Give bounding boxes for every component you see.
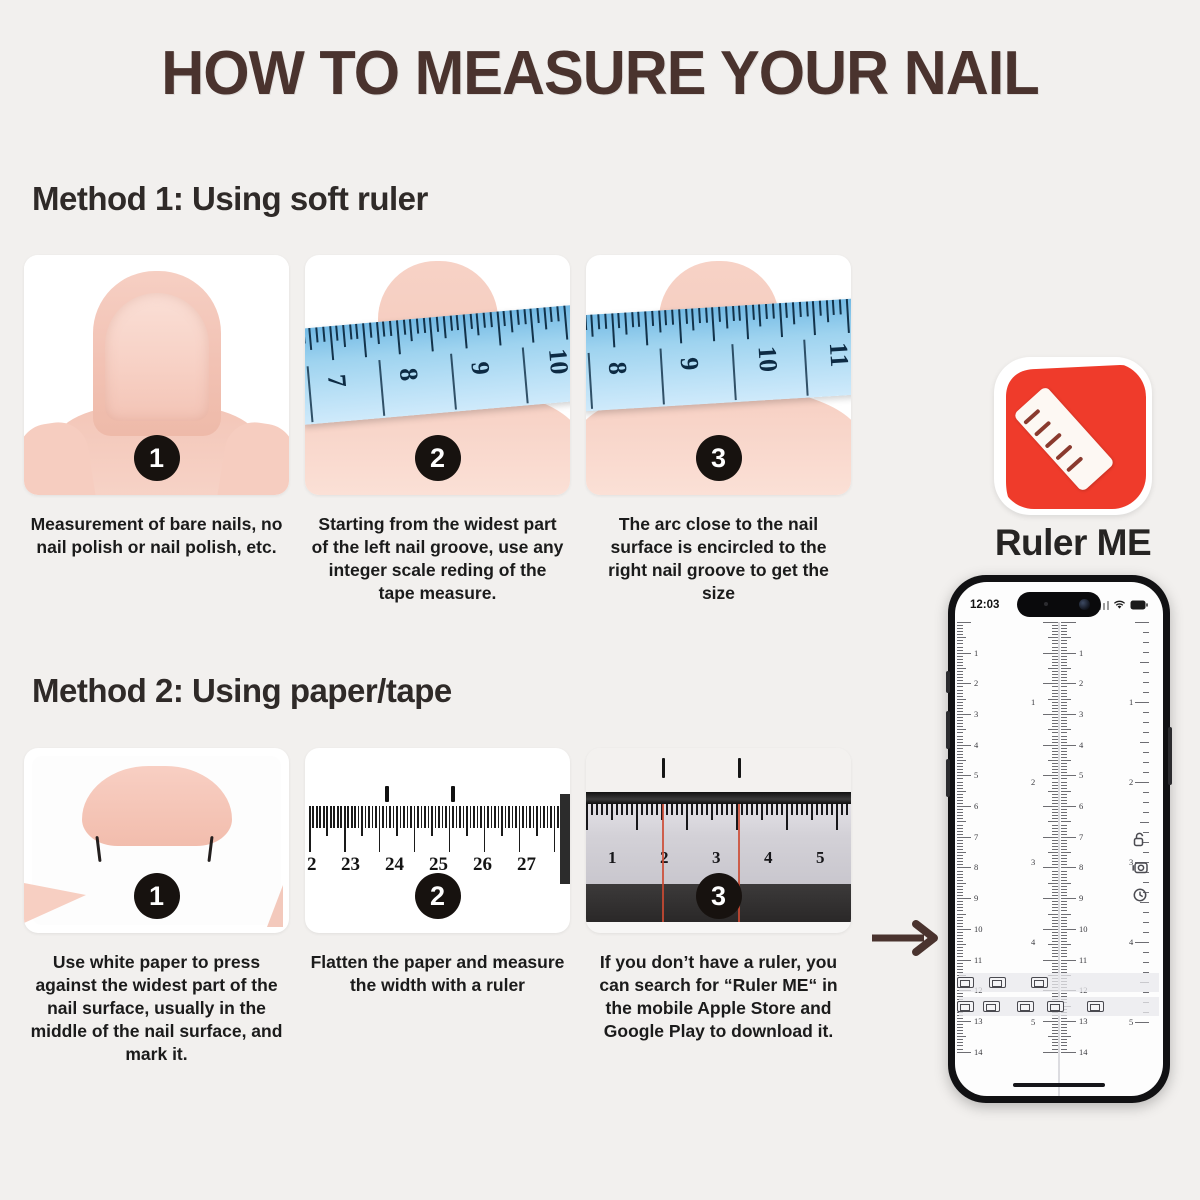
ruler-tick — [1052, 665, 1058, 666]
ruler-tick — [1061, 726, 1067, 727]
ruler-tick — [957, 683, 971, 684]
ruler-tick — [957, 782, 963, 783]
ruler-number: 23 — [341, 854, 360, 876]
ruler-tick — [957, 969, 963, 970]
ruler-tick — [1052, 858, 1058, 859]
ruler-tick — [1061, 677, 1067, 678]
tape-tick — [550, 307, 553, 322]
ruler-tick — [1052, 855, 1058, 856]
ruler-tick — [636, 804, 638, 830]
ruler-tick — [641, 804, 643, 815]
ruler-number: 5 — [1031, 1017, 1035, 1027]
ruler-tick — [1061, 855, 1067, 856]
ruler-background — [586, 748, 851, 792]
ruler-tick — [741, 804, 743, 815]
tape-tick — [597, 314, 600, 329]
tape-tick — [718, 307, 721, 322]
ruler-tick — [1135, 622, 1149, 623]
ruler-tick — [1043, 775, 1058, 776]
tape-tick — [812, 301, 816, 335]
tape-tick — [658, 310, 661, 332]
ruler-tick — [706, 804, 708, 815]
ruler-tick — [1052, 1024, 1058, 1025]
ruler-tick — [1061, 665, 1067, 666]
ruler-tick — [1052, 880, 1058, 881]
tape-tick — [456, 315, 459, 330]
ruler-tick — [957, 821, 966, 822]
ruler-tick — [333, 806, 335, 828]
ruler-tick — [1043, 960, 1058, 961]
ruler-tick — [1052, 696, 1058, 697]
ruler-tick — [957, 855, 963, 856]
ruler-tick — [957, 907, 963, 908]
ruler-tick — [1043, 622, 1058, 623]
ruler-tick — [1061, 668, 1071, 669]
ruler-tick — [957, 843, 963, 844]
method-1-heading: Method 1: Using soft ruler — [32, 180, 428, 218]
ruler-tick — [1143, 642, 1149, 643]
ruler-number: 6 — [974, 801, 978, 811]
tape-tick — [846, 299, 850, 333]
tape-tick — [671, 310, 674, 325]
tape-tick — [315, 327, 318, 342]
size-widget[interactable] — [1047, 1001, 1064, 1012]
ruler-tick — [368, 806, 370, 828]
ruler-tick — [1061, 837, 1076, 838]
ruler-tick — [1061, 1024, 1067, 1025]
ruler-tick — [375, 806, 377, 828]
ruler-number: 3 — [1031, 857, 1035, 867]
tape-tick — [369, 323, 372, 338]
ruler-tick — [550, 806, 552, 828]
ruler-tick — [686, 804, 688, 830]
ruler-tick — [1052, 886, 1058, 887]
ruler-tick — [424, 806, 426, 828]
ruler-tick — [957, 941, 963, 942]
power-button[interactable] — [1168, 727, 1172, 785]
ruler-tick — [671, 804, 673, 815]
ruler-tick — [533, 806, 535, 828]
ruler-tick — [494, 806, 496, 828]
ruler-tick — [957, 1042, 963, 1043]
tape-tick — [678, 309, 682, 343]
ruler-tick — [1052, 766, 1058, 767]
ruler-tick — [1052, 693, 1058, 694]
ruler-tick — [1052, 754, 1058, 755]
ruler-number: 2 — [974, 678, 978, 688]
ruler-tick — [1061, 769, 1067, 770]
ruler-tick — [957, 739, 963, 740]
ruler-tick — [365, 806, 367, 828]
ruler-edge — [560, 794, 570, 884]
tape-number: 9 — [674, 356, 705, 371]
ruler-tick — [1052, 785, 1058, 786]
ruler-tick — [498, 806, 500, 828]
ruler-tick — [1061, 680, 1067, 681]
tape-tick — [536, 308, 539, 323]
ruler-tick — [957, 926, 963, 927]
ruler-tick — [1061, 674, 1067, 675]
ruler-tick — [1052, 757, 1058, 758]
ruler-tick — [957, 680, 963, 681]
ruler-tick — [957, 864, 963, 865]
ruler-tick — [529, 806, 531, 828]
size-widget[interactable] — [1087, 1001, 1104, 1012]
tape-tick — [423, 318, 426, 333]
ruler-tick — [1061, 778, 1067, 779]
ruler-tick — [1143, 852, 1149, 853]
tape-tick — [342, 325, 346, 347]
ruler-tick — [508, 806, 510, 828]
ruler-tick — [696, 804, 698, 815]
ruler-tick — [1061, 662, 1067, 663]
ruler-tick — [396, 806, 398, 836]
step-card-m2-3: 12345 3 If you don’t have a ruler, you c… — [586, 748, 851, 1066]
ruler-tick — [1061, 828, 1067, 829]
ruler-tick — [1061, 686, 1067, 687]
ruler-tick — [428, 806, 430, 828]
ruler-tick — [1061, 1042, 1067, 1043]
ruler-number: 4 — [1079, 740, 1083, 750]
ruler-tick — [347, 806, 349, 828]
ruler-tick — [711, 804, 713, 820]
ruler-tick — [1052, 702, 1058, 703]
ruler-tick — [1052, 782, 1058, 783]
ruler-tick — [1052, 726, 1058, 727]
ruler-tick — [1052, 690, 1058, 691]
ruler-tick — [1061, 846, 1067, 847]
ruler-number: 4 — [764, 848, 773, 868]
ruler-number: 5 — [816, 848, 825, 868]
page-title: HOW TO MEASURE YOUR NAIL — [24, 38, 1176, 109]
step-card-m1-2: 78910 2 Starting from the widest part of… — [305, 255, 570, 605]
ruler-tick — [1061, 757, 1067, 758]
step-caption: The arc close to the nail surface is enc… — [586, 513, 851, 605]
ruler-tick — [957, 861, 963, 862]
ruler-tick — [1052, 941, 1058, 942]
ruler-number: 6 — [1079, 801, 1083, 811]
ruler-tick — [957, 871, 963, 872]
ruler-tick — [1061, 904, 1067, 905]
ruler-tick — [831, 804, 833, 815]
ruler-tick — [1061, 671, 1067, 672]
ruler-tick — [1061, 708, 1067, 709]
tape-tick — [556, 306, 559, 321]
ruler-tick — [1061, 821, 1071, 822]
ruler-tick — [957, 714, 971, 715]
ruler-tick — [372, 806, 374, 828]
ruler-tick — [1052, 772, 1058, 773]
tape-tick — [785, 303, 788, 318]
ruler-tick — [1061, 944, 1071, 945]
tape-tick — [476, 313, 480, 335]
ruler-tick — [1061, 647, 1067, 648]
ruler-tick — [836, 804, 838, 830]
ruler-tick — [1061, 938, 1067, 939]
ruler-tick — [554, 806, 556, 852]
size-widget[interactable] — [989, 977, 1006, 988]
tape-tick — [644, 311, 648, 345]
tape-tick — [510, 310, 514, 332]
tape-tick — [819, 301, 822, 316]
ruler-tick — [957, 745, 971, 746]
method-2-cards: 1 Use white paper to press against the w… — [24, 748, 851, 1066]
step-caption: Use white paper to press against the wid… — [24, 951, 289, 1066]
ruler-tick — [1061, 858, 1067, 859]
tape-tick — [382, 321, 385, 336]
size-widget[interactable] — [983, 1001, 1000, 1012]
size-widget[interactable] — [1017, 1001, 1034, 1012]
ruler-number: 3 — [1079, 709, 1083, 719]
ruler-tick — [1043, 867, 1058, 868]
ruler-tick — [1061, 907, 1067, 908]
ruler-app-screen[interactable]: 1234567891011121314123456789101112131412… — [955, 622, 1163, 1096]
ruler-number: 14 — [974, 1047, 983, 1057]
ruler-tick — [676, 804, 678, 815]
tape-tick — [772, 304, 775, 319]
ruler-tick — [1143, 802, 1149, 803]
ruler-tick — [1061, 751, 1067, 752]
step-image-bare-nail: 1 — [24, 255, 289, 495]
tape-tick — [792, 302, 795, 324]
ruler-tick — [417, 806, 419, 828]
step-image-nail-on-paper: 1 — [24, 748, 289, 933]
tape-divider — [659, 348, 664, 404]
ruler-tick — [1052, 963, 1058, 964]
measure-line-left — [662, 804, 664, 922]
size-widget[interactable] — [957, 1001, 974, 1012]
ruler-tick — [611, 804, 613, 820]
ruler-number: 5 — [1129, 1017, 1133, 1027]
tape-tick — [563, 306, 568, 340]
metal-ruler-scale: 12345 — [586, 804, 851, 884]
ruler-tick — [1140, 822, 1149, 823]
phone-mockup: 12:03 12 — [948, 575, 1170, 1103]
tape-tick — [745, 305, 749, 339]
tape-tick — [443, 316, 447, 338]
ruler-tick — [1052, 923, 1058, 924]
ruler-tick — [1061, 1018, 1067, 1019]
mute-button[interactable] — [946, 671, 950, 693]
ruler-tick — [957, 883, 966, 884]
ruler-tick — [1052, 831, 1058, 832]
ruler-tick — [957, 726, 963, 727]
ruler-tick — [957, 640, 963, 641]
ruler-tick — [1135, 702, 1149, 703]
ruler-tick — [1061, 898, 1076, 899]
ruler-tick — [1061, 956, 1067, 957]
tape-tick — [705, 308, 708, 323]
ruler-tick — [957, 960, 971, 961]
ruler-tick — [957, 757, 963, 758]
ruler-tick — [746, 804, 748, 815]
ruler-tick — [1061, 806, 1076, 807]
ruler-tick — [473, 806, 475, 828]
ruler-tick — [957, 1033, 963, 1034]
ruler-tick — [957, 742, 963, 743]
home-indicator[interactable] — [1013, 1083, 1105, 1087]
tape-tick — [586, 315, 587, 330]
ruler-tick — [414, 806, 416, 852]
ruler-tick — [1052, 671, 1058, 672]
ruler-number: 24 — [385, 854, 404, 876]
ruler-tick — [646, 804, 648, 815]
step-badge: 2 — [415, 873, 461, 919]
ruler-tick — [1061, 947, 1067, 948]
ruler-tick — [382, 806, 384, 828]
ruler-tick — [957, 901, 963, 902]
ruler-tick — [1052, 938, 1058, 939]
ruler-tick — [957, 834, 963, 835]
ruler-tick — [957, 812, 963, 813]
ruler-tick — [1143, 722, 1149, 723]
ruler-tick — [957, 840, 963, 841]
tape-measure: 891011 — [586, 299, 851, 412]
ruler-tick — [957, 769, 963, 770]
volume-down-button[interactable] — [946, 759, 950, 797]
ruler-number: 10 — [974, 924, 983, 934]
ruler-tick — [1061, 800, 1067, 801]
ruler-number: 11 — [1079, 955, 1087, 965]
front-camera-icon — [1079, 599, 1090, 610]
ruler-tick — [1061, 883, 1071, 884]
ruler-tick — [1061, 650, 1067, 651]
ruler-tick — [1061, 763, 1067, 764]
volume-up-button[interactable] — [946, 711, 950, 749]
ruler-tick — [957, 917, 963, 918]
ruler-tick — [1061, 791, 1071, 792]
ruler-tick — [1061, 766, 1067, 767]
step-badge: 1 — [134, 435, 180, 481]
unlock-icon[interactable] — [1133, 832, 1147, 852]
ruler-tick — [1061, 690, 1067, 691]
ruler-tick — [1052, 1018, 1058, 1019]
ruler-tick — [1061, 1030, 1067, 1031]
method-1-cards: 1 Measurement of bare nails, no nail pol… — [24, 255, 851, 605]
ruler-tick — [1052, 647, 1058, 648]
ruler-tick — [1052, 840, 1058, 841]
ruler-tick — [1061, 914, 1071, 915]
ruler-tick — [1052, 717, 1058, 718]
ruler-tick — [1061, 631, 1067, 632]
ruler-tick — [1061, 729, 1071, 730]
ruler-tick — [1043, 1052, 1058, 1053]
ruler-tick — [1061, 1052, 1076, 1053]
ruler-tick — [1143, 652, 1149, 653]
tape-tick — [429, 317, 434, 351]
ruler-tick — [957, 852, 966, 853]
ruler-tick — [466, 806, 468, 836]
ruler-tick — [1052, 935, 1058, 936]
ruler-tick — [957, 877, 963, 878]
tape-tick — [591, 315, 594, 337]
ruler-number: 5 — [1079, 770, 1083, 780]
ruler-tick — [1061, 803, 1067, 804]
ruler-tick — [410, 806, 412, 828]
ruler-tick — [957, 637, 966, 638]
ruler-tick — [1052, 907, 1058, 908]
ruler-tick — [1143, 632, 1149, 633]
ruler-tick — [616, 804, 618, 815]
history-icon[interactable] — [1133, 888, 1147, 907]
ruler-tick — [1052, 1039, 1058, 1040]
tape-tick — [618, 313, 621, 328]
step-caption: Starting from the widest part of the lef… — [305, 513, 570, 605]
ruler-tick — [1052, 751, 1058, 752]
ruler-tick — [536, 806, 538, 836]
ruler-tick — [816, 804, 818, 815]
step-image-tape-start: 78910 2 — [305, 255, 570, 495]
ruler-tick — [957, 702, 963, 703]
camera-icon[interactable] — [1132, 860, 1148, 879]
ruler-tick — [344, 806, 346, 852]
ruler-tick — [756, 804, 758, 815]
ruler-tick — [1052, 711, 1058, 712]
tape-tick — [752, 305, 755, 320]
size-widget[interactable] — [957, 977, 974, 988]
tape-tick — [309, 328, 313, 350]
ruler-tick — [459, 806, 461, 828]
ruler-number: 1 — [1079, 648, 1083, 658]
ruler-tick — [1061, 920, 1067, 921]
ruler-tick — [957, 797, 963, 798]
ruler-number: 2 — [1079, 678, 1083, 688]
ruler-tick — [791, 804, 793, 815]
tape-tick — [651, 311, 654, 326]
size-widget[interactable] — [1031, 977, 1048, 988]
ruler-tick — [1052, 800, 1058, 801]
ruler-tick — [631, 804, 633, 815]
step-card-m2-1: 1 Use white paper to press against the w… — [24, 748, 289, 1066]
sensor-dot — [1044, 602, 1048, 606]
ruler-tick — [1061, 1036, 1071, 1037]
ruler-tick — [438, 806, 440, 828]
tape-ticks — [586, 299, 851, 356]
ruler-tick — [1052, 966, 1058, 967]
ruler-tick — [1052, 828, 1058, 829]
pen-mark-right — [451, 786, 455, 802]
ruler-number: 9 — [974, 893, 978, 903]
ruler-tick — [1052, 950, 1058, 951]
ruler-tick — [957, 966, 963, 967]
ruler-tick — [522, 806, 524, 828]
ruler-tick — [1143, 752, 1149, 753]
ruler-tick — [1052, 947, 1058, 948]
ruler-tick — [1061, 696, 1067, 697]
ruler-tick — [1061, 1021, 1076, 1022]
tape-tick — [496, 312, 501, 346]
tape-tick — [839, 299, 842, 314]
ruler-tick — [957, 763, 963, 764]
ruler-tick — [1052, 788, 1058, 789]
ruler-tick — [1061, 754, 1067, 755]
ruler-tick — [1052, 803, 1058, 804]
ruler-tick — [1052, 763, 1058, 764]
ruler-app-icon[interactable] — [994, 357, 1152, 515]
ruler-number: 7 — [974, 832, 978, 842]
ruler-number: 13 — [974, 1016, 983, 1026]
tape-tick — [436, 317, 439, 332]
ruler-tick — [1048, 637, 1058, 638]
ruler-tick — [801, 804, 803, 815]
ruler-number: 7 — [1079, 832, 1083, 842]
ruler-tick — [957, 686, 963, 687]
ruler-tick — [480, 806, 482, 828]
tape-tick — [738, 306, 741, 321]
ruler-tick — [1061, 656, 1067, 657]
ruler-tick — [957, 650, 963, 651]
ruler-tick — [721, 804, 723, 815]
